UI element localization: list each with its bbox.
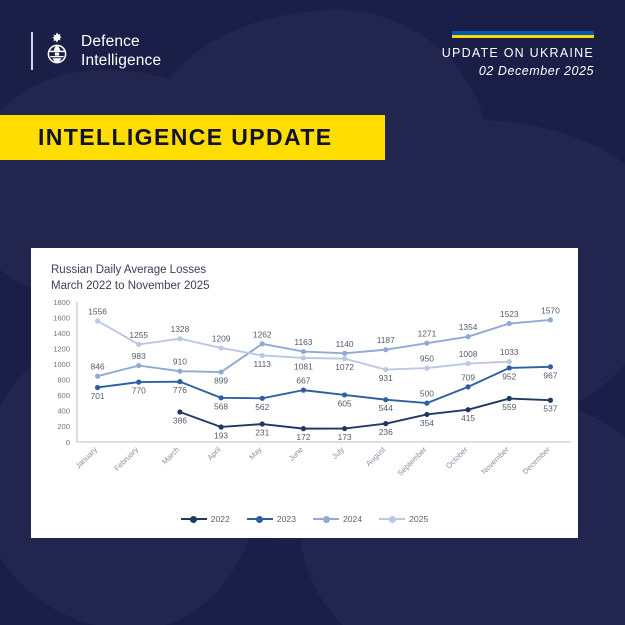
defence-intelligence-logo: Defence Intelligence: [31, 31, 161, 71]
x-axis-month-label: August: [364, 444, 388, 468]
data-point-2023: [548, 364, 553, 369]
data-label-2022: 173: [338, 432, 352, 442]
data-label-2023: 709: [461, 372, 475, 382]
chart-axes: [77, 302, 571, 442]
chart-title: Russian Daily Average LossesMarch 2022 t…: [51, 262, 210, 295]
intelligence-update-graphic: Defence Intelligence UPDATE ON UKRAINE 0…: [0, 0, 625, 625]
data-label-2024: 846: [91, 362, 105, 372]
series-line-2023: [98, 367, 551, 403]
data-label-2024: 1163: [294, 337, 312, 347]
data-point-2022: [383, 421, 388, 426]
data-label-2024: 899: [214, 376, 228, 386]
data-label-2024: 1187: [377, 335, 395, 345]
data-point-2025: [301, 355, 306, 360]
data-point-2022: [424, 412, 429, 417]
x-axis-month-label: June: [287, 445, 305, 463]
data-label-2023: 500: [420, 389, 434, 399]
legend-label-2022: 2022: [211, 514, 230, 524]
data-point-2024: [548, 317, 553, 322]
data-point-2024: [301, 349, 306, 354]
data-point-2022: [301, 426, 306, 431]
data-point-2024: [136, 363, 141, 368]
data-point-2023: [136, 380, 141, 385]
data-label-2024: 1140: [336, 339, 354, 349]
data-label-2025: 1328: [171, 324, 190, 334]
data-label-2023: 544: [379, 403, 393, 413]
data-label-2022: 559: [502, 402, 516, 412]
x-axis-month-label: March: [160, 445, 181, 466]
data-point-2024: [95, 374, 100, 379]
data-point-2023: [424, 401, 429, 406]
royal-crest-icon: [42, 31, 72, 71]
data-point-2025: [136, 342, 141, 347]
data-label-2023: 776: [173, 385, 187, 395]
data-label-2023: 568: [214, 401, 228, 411]
y-axis-tick-label: 0: [66, 438, 70, 447]
x-axis-month-label: April: [205, 445, 222, 462]
data-point-2024: [424, 341, 429, 346]
data-point-2023: [465, 384, 470, 389]
data-point-2025: [218, 345, 223, 350]
chart-title-line-2: March 2022 to November 2025: [51, 280, 210, 292]
data-point-2025: [507, 359, 512, 364]
series-line-2022: [180, 399, 551, 429]
data-point-2023: [218, 395, 223, 400]
data-label-2022: 172: [296, 432, 310, 442]
data-label-2022: 386: [173, 415, 187, 425]
data-point-2022: [342, 426, 347, 431]
logo-divider: [31, 32, 33, 70]
data-point-2023: [301, 388, 306, 393]
x-axis-month-label: January: [74, 445, 100, 471]
y-axis-tick-label: 1600: [53, 313, 70, 322]
line-chart: 020040060080010001200140016001800January…: [31, 296, 578, 496]
data-label-2024: 1570: [541, 305, 560, 315]
y-axis-tick-label: 200: [57, 422, 70, 431]
legend-item-2024[interactable]: 2024: [313, 514, 362, 524]
legend-label-2023: 2023: [277, 514, 296, 524]
logo-line-1: Defence: [81, 32, 161, 51]
x-axis-month-label: September: [396, 445, 429, 478]
ukraine-flag-bar: [452, 31, 594, 38]
data-point-2022: [218, 424, 223, 429]
y-axis-tick-label: 1000: [53, 360, 70, 369]
data-label-2023: 952: [502, 371, 516, 381]
update-on-ukraine-label: UPDATE ON UKRAINE: [442, 46, 594, 60]
y-axis-tick-label: 1200: [53, 344, 70, 353]
data-label-2022: 231: [255, 428, 269, 438]
banner-text: INTELLIGENCE UPDATE: [0, 124, 333, 151]
data-point-2022: [177, 409, 182, 414]
data-label-2025: 1081: [294, 361, 313, 371]
data-label-2022: 415: [461, 413, 475, 423]
data-label-2023: 701: [91, 391, 105, 401]
x-axis-month-label: October: [444, 445, 470, 471]
update-date: 02 December 2025: [479, 64, 594, 78]
data-label-2025: 1072: [335, 362, 354, 372]
data-label-2024: 910: [173, 357, 187, 367]
data-point-2024: [260, 341, 265, 346]
y-axis-tick-label: 400: [57, 407, 70, 416]
data-label-2025: 1209: [212, 333, 231, 343]
x-axis-month-label: May: [247, 445, 264, 462]
intelligence-update-banner: INTELLIGENCE UPDATE: [0, 115, 385, 160]
data-label-2024: 1523: [500, 309, 519, 319]
x-axis-month-label: February: [112, 445, 140, 473]
data-point-2022: [465, 407, 470, 412]
data-point-2025: [465, 361, 470, 366]
x-axis-month-label: July: [330, 445, 346, 461]
plot-area: 020040060080010001200140016001800January…: [31, 296, 578, 496]
data-label-2022: 537: [543, 404, 557, 414]
data-point-2022: [507, 396, 512, 401]
data-label-2024: 1271: [418, 329, 437, 339]
data-point-2025: [342, 356, 347, 361]
chart-title-line-1: Russian Daily Average Losses: [51, 264, 206, 276]
data-point-2024: [507, 321, 512, 326]
data-label-2023: 967: [543, 370, 557, 380]
data-label-2024: 983: [132, 351, 146, 361]
logo-line-2: Intelligence: [81, 51, 161, 70]
chart-panel: Russian Daily Average LossesMarch 2022 t…: [31, 248, 578, 538]
data-label-2025: 1008: [459, 349, 478, 359]
y-axis-tick-label: 600: [57, 391, 70, 400]
data-label-2024: 1262: [253, 329, 272, 339]
x-axis-month-label: December: [521, 445, 552, 476]
legend-swatch-2025: [379, 515, 405, 524]
y-axis-tick-label: 1400: [53, 329, 70, 338]
data-point-2023: [383, 397, 388, 402]
data-label-2022: 236: [379, 427, 393, 437]
data-label-2023: 562: [255, 402, 269, 412]
legend-item-2022[interactable]: 2022: [181, 514, 230, 524]
data-label-2025: 1556: [88, 306, 107, 316]
data-point-2024: [177, 369, 182, 374]
data-point-2022: [260, 421, 265, 426]
data-point-2025: [424, 366, 429, 371]
logo-text: Defence Intelligence: [81, 32, 161, 70]
data-label-2025: 1113: [254, 359, 272, 369]
data-point-2023: [177, 379, 182, 384]
chart-legend: 2022202320242025: [31, 514, 578, 524]
x-axis-month-label: November: [480, 445, 511, 476]
data-point-2024: [218, 369, 223, 374]
data-label-2022: 193: [214, 430, 228, 440]
data-point-2024: [383, 347, 388, 352]
legend-item-2025[interactable]: 2025: [379, 514, 428, 524]
legend-label-2025: 2025: [409, 514, 428, 524]
data-label-2025: 1033: [500, 347, 519, 357]
data-point-2023: [507, 365, 512, 370]
series-line-2024: [98, 320, 551, 376]
data-point-2025: [95, 318, 100, 323]
data-label-2025: 950: [420, 354, 434, 364]
data-point-2022: [548, 398, 553, 403]
legend-swatch-2023: [247, 515, 273, 524]
data-point-2025: [383, 367, 388, 372]
legend-item-2023[interactable]: 2023: [247, 514, 296, 524]
legend-swatch-2022: [181, 515, 207, 524]
data-point-2024: [342, 351, 347, 356]
data-point-2023: [342, 392, 347, 397]
y-axis-tick-label: 800: [57, 376, 70, 385]
data-point-2025: [260, 353, 265, 358]
data-label-2023: 667: [296, 376, 310, 386]
data-label-2022: 354: [420, 418, 434, 428]
data-label-2025: 931: [379, 373, 393, 383]
data-point-2025: [177, 336, 182, 341]
data-label-2024: 1354: [459, 322, 478, 332]
legend-swatch-2024: [313, 515, 339, 524]
legend-label-2024: 2024: [343, 514, 362, 524]
data-label-2025: 1255: [129, 330, 148, 340]
data-label-2023: 605: [338, 398, 352, 408]
data-label-2023: 770: [132, 386, 146, 396]
data-point-2023: [95, 385, 100, 390]
data-point-2024: [465, 334, 470, 339]
data-point-2023: [260, 396, 265, 401]
y-axis-tick-label: 1800: [53, 298, 70, 307]
